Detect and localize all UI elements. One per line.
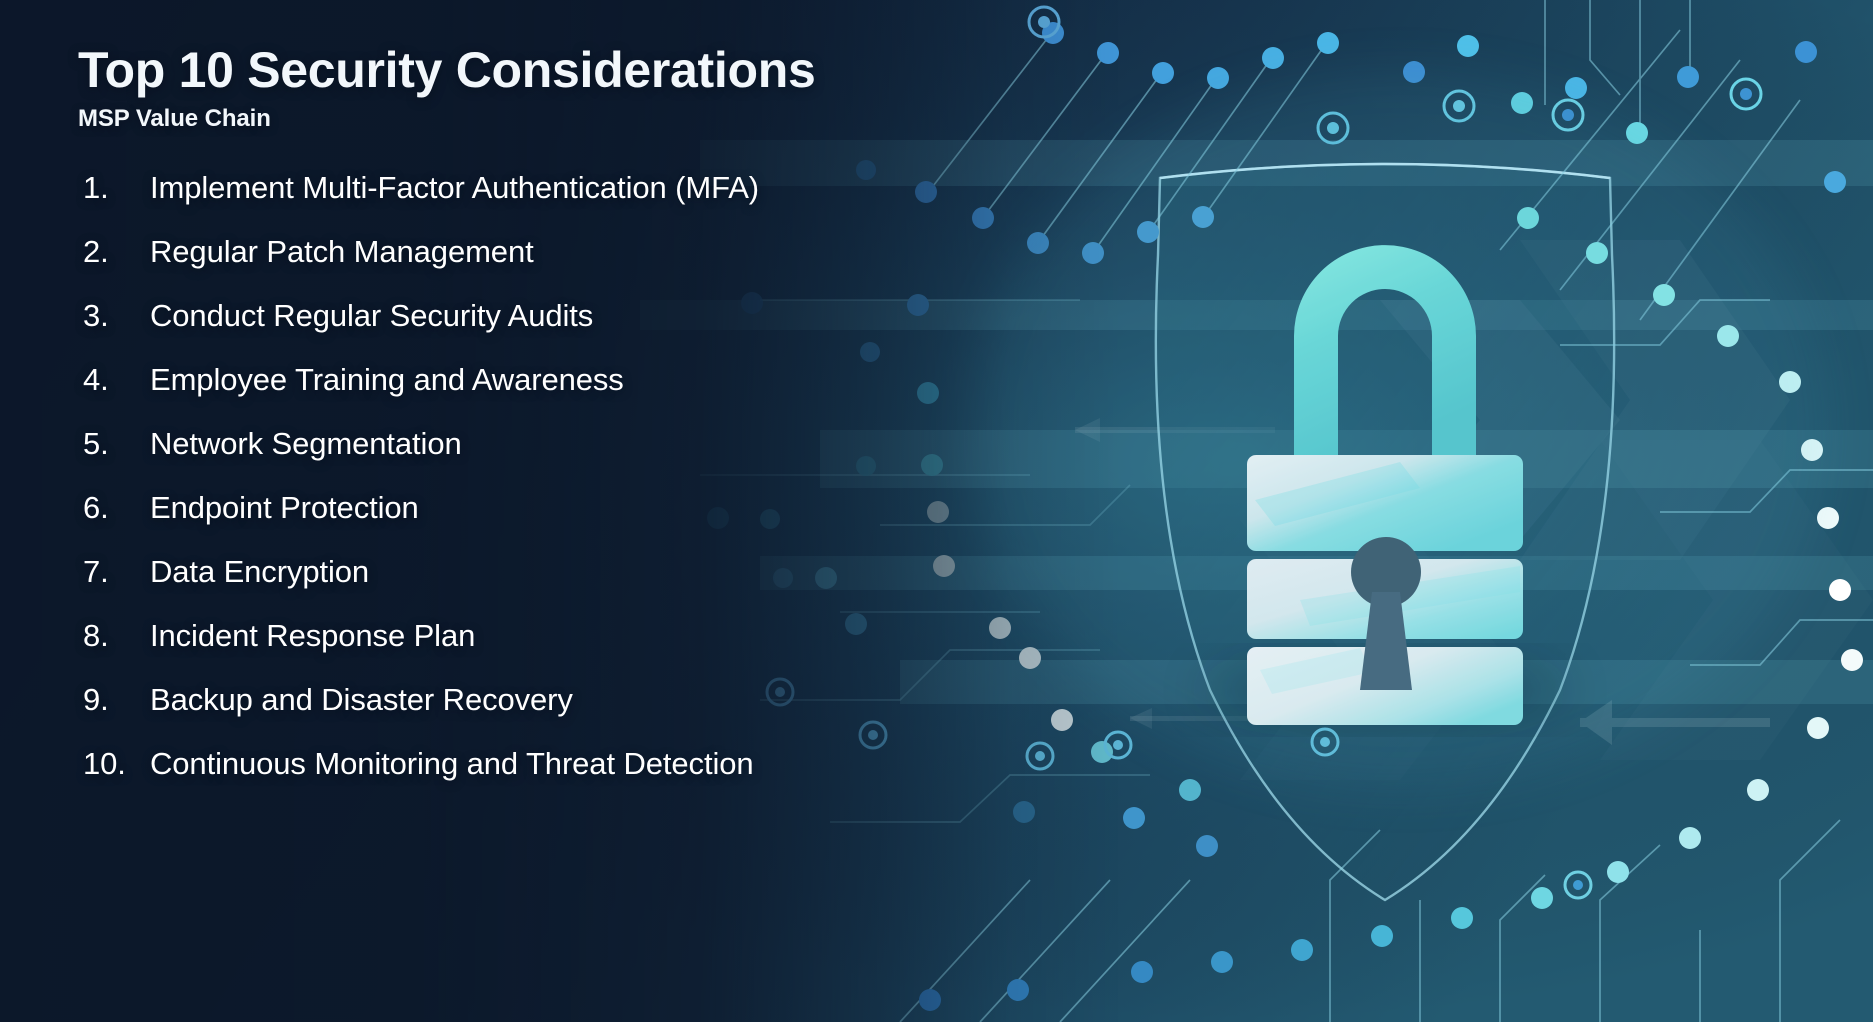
- list-item-label: Regular Patch Management: [150, 234, 534, 270]
- list-item-number: 2.: [78, 234, 150, 270]
- list-item-number: 6.: [78, 490, 150, 526]
- list-item-label: Backup and Disaster Recovery: [150, 682, 573, 718]
- list-item-number: 5.: [78, 426, 150, 462]
- list-item-number: 1.: [78, 170, 150, 206]
- list-item-label: Data Encryption: [150, 554, 369, 590]
- list-item-number: 9.: [78, 682, 150, 718]
- list-item: 2. Regular Patch Management: [78, 234, 759, 298]
- list-item-label: Network Segmentation: [150, 426, 462, 462]
- list-item-label: Continuous Monitoring and Threat Detecti…: [150, 746, 754, 782]
- list-item-number: 3.: [78, 298, 150, 334]
- list-item-label: Employee Training and Awareness: [150, 362, 624, 398]
- list-item-label: Incident Response Plan: [150, 618, 475, 654]
- list-item-label: Endpoint Protection: [150, 490, 419, 526]
- list-item: 5. Network Segmentation: [78, 426, 759, 490]
- list-item: 6. Endpoint Protection: [78, 490, 759, 554]
- considerations-list: 1. Implement Multi-Factor Authentication…: [78, 170, 759, 810]
- list-item-label: Implement Multi-Factor Authentication (M…: [150, 170, 759, 206]
- page-subtitle: MSP Value Chain: [78, 105, 815, 133]
- list-item-number: 10.: [78, 746, 150, 782]
- list-item: 3. Conduct Regular Security Audits: [78, 298, 759, 362]
- list-item: 4. Employee Training and Awareness: [78, 362, 759, 426]
- list-item-label: Conduct Regular Security Audits: [150, 298, 593, 334]
- list-item-number: 8.: [78, 618, 150, 654]
- list-item-number: 7.: [78, 554, 150, 590]
- list-item: 1. Implement Multi-Factor Authentication…: [78, 170, 759, 234]
- page-title: Top 10 Security Considerations: [78, 44, 815, 96]
- slide-content: Top 10 Security Considerations MSP Value…: [0, 0, 1873, 1022]
- list-item: 8. Incident Response Plan: [78, 618, 759, 682]
- title-block: Top 10 Security Considerations MSP Value…: [78, 44, 815, 133]
- list-item: 10. Continuous Monitoring and Threat Det…: [78, 746, 759, 810]
- list-item-number: 4.: [78, 362, 150, 398]
- list-item: 9. Backup and Disaster Recovery: [78, 682, 759, 746]
- list-item: 7. Data Encryption: [78, 554, 759, 618]
- slide-canvas: Top 10 Security Considerations MSP Value…: [0, 0, 1873, 1022]
